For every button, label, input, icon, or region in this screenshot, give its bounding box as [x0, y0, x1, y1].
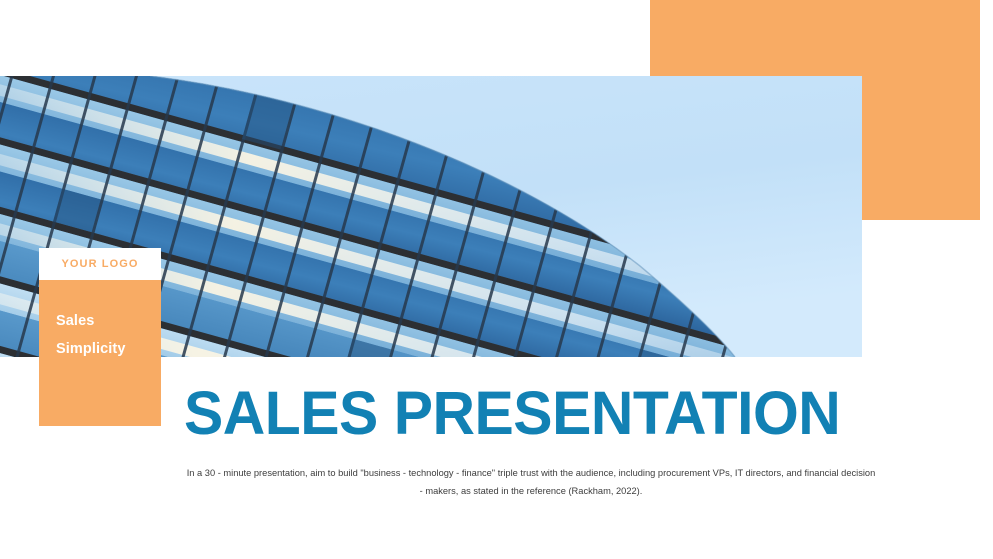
logo-text: YOUR LOGO: [61, 258, 138, 270]
tagline-block: Sales Simplicity: [39, 280, 161, 426]
slide-title: SALES PRESENTATION: [184, 382, 860, 444]
presentation-slide: YOUR LOGO Sales Simplicity SALES PRESENT…: [0, 0, 993, 559]
slide-subtitle: In a 30 - minute presentation, aim to bu…: [186, 464, 876, 500]
logo-placeholder-band: YOUR LOGO: [39, 248, 161, 280]
logo-tagline-card: YOUR LOGO Sales Simplicity: [39, 248, 161, 426]
tagline-line-2: Simplicity: [56, 335, 161, 363]
tagline-line-1: Sales: [56, 307, 161, 335]
